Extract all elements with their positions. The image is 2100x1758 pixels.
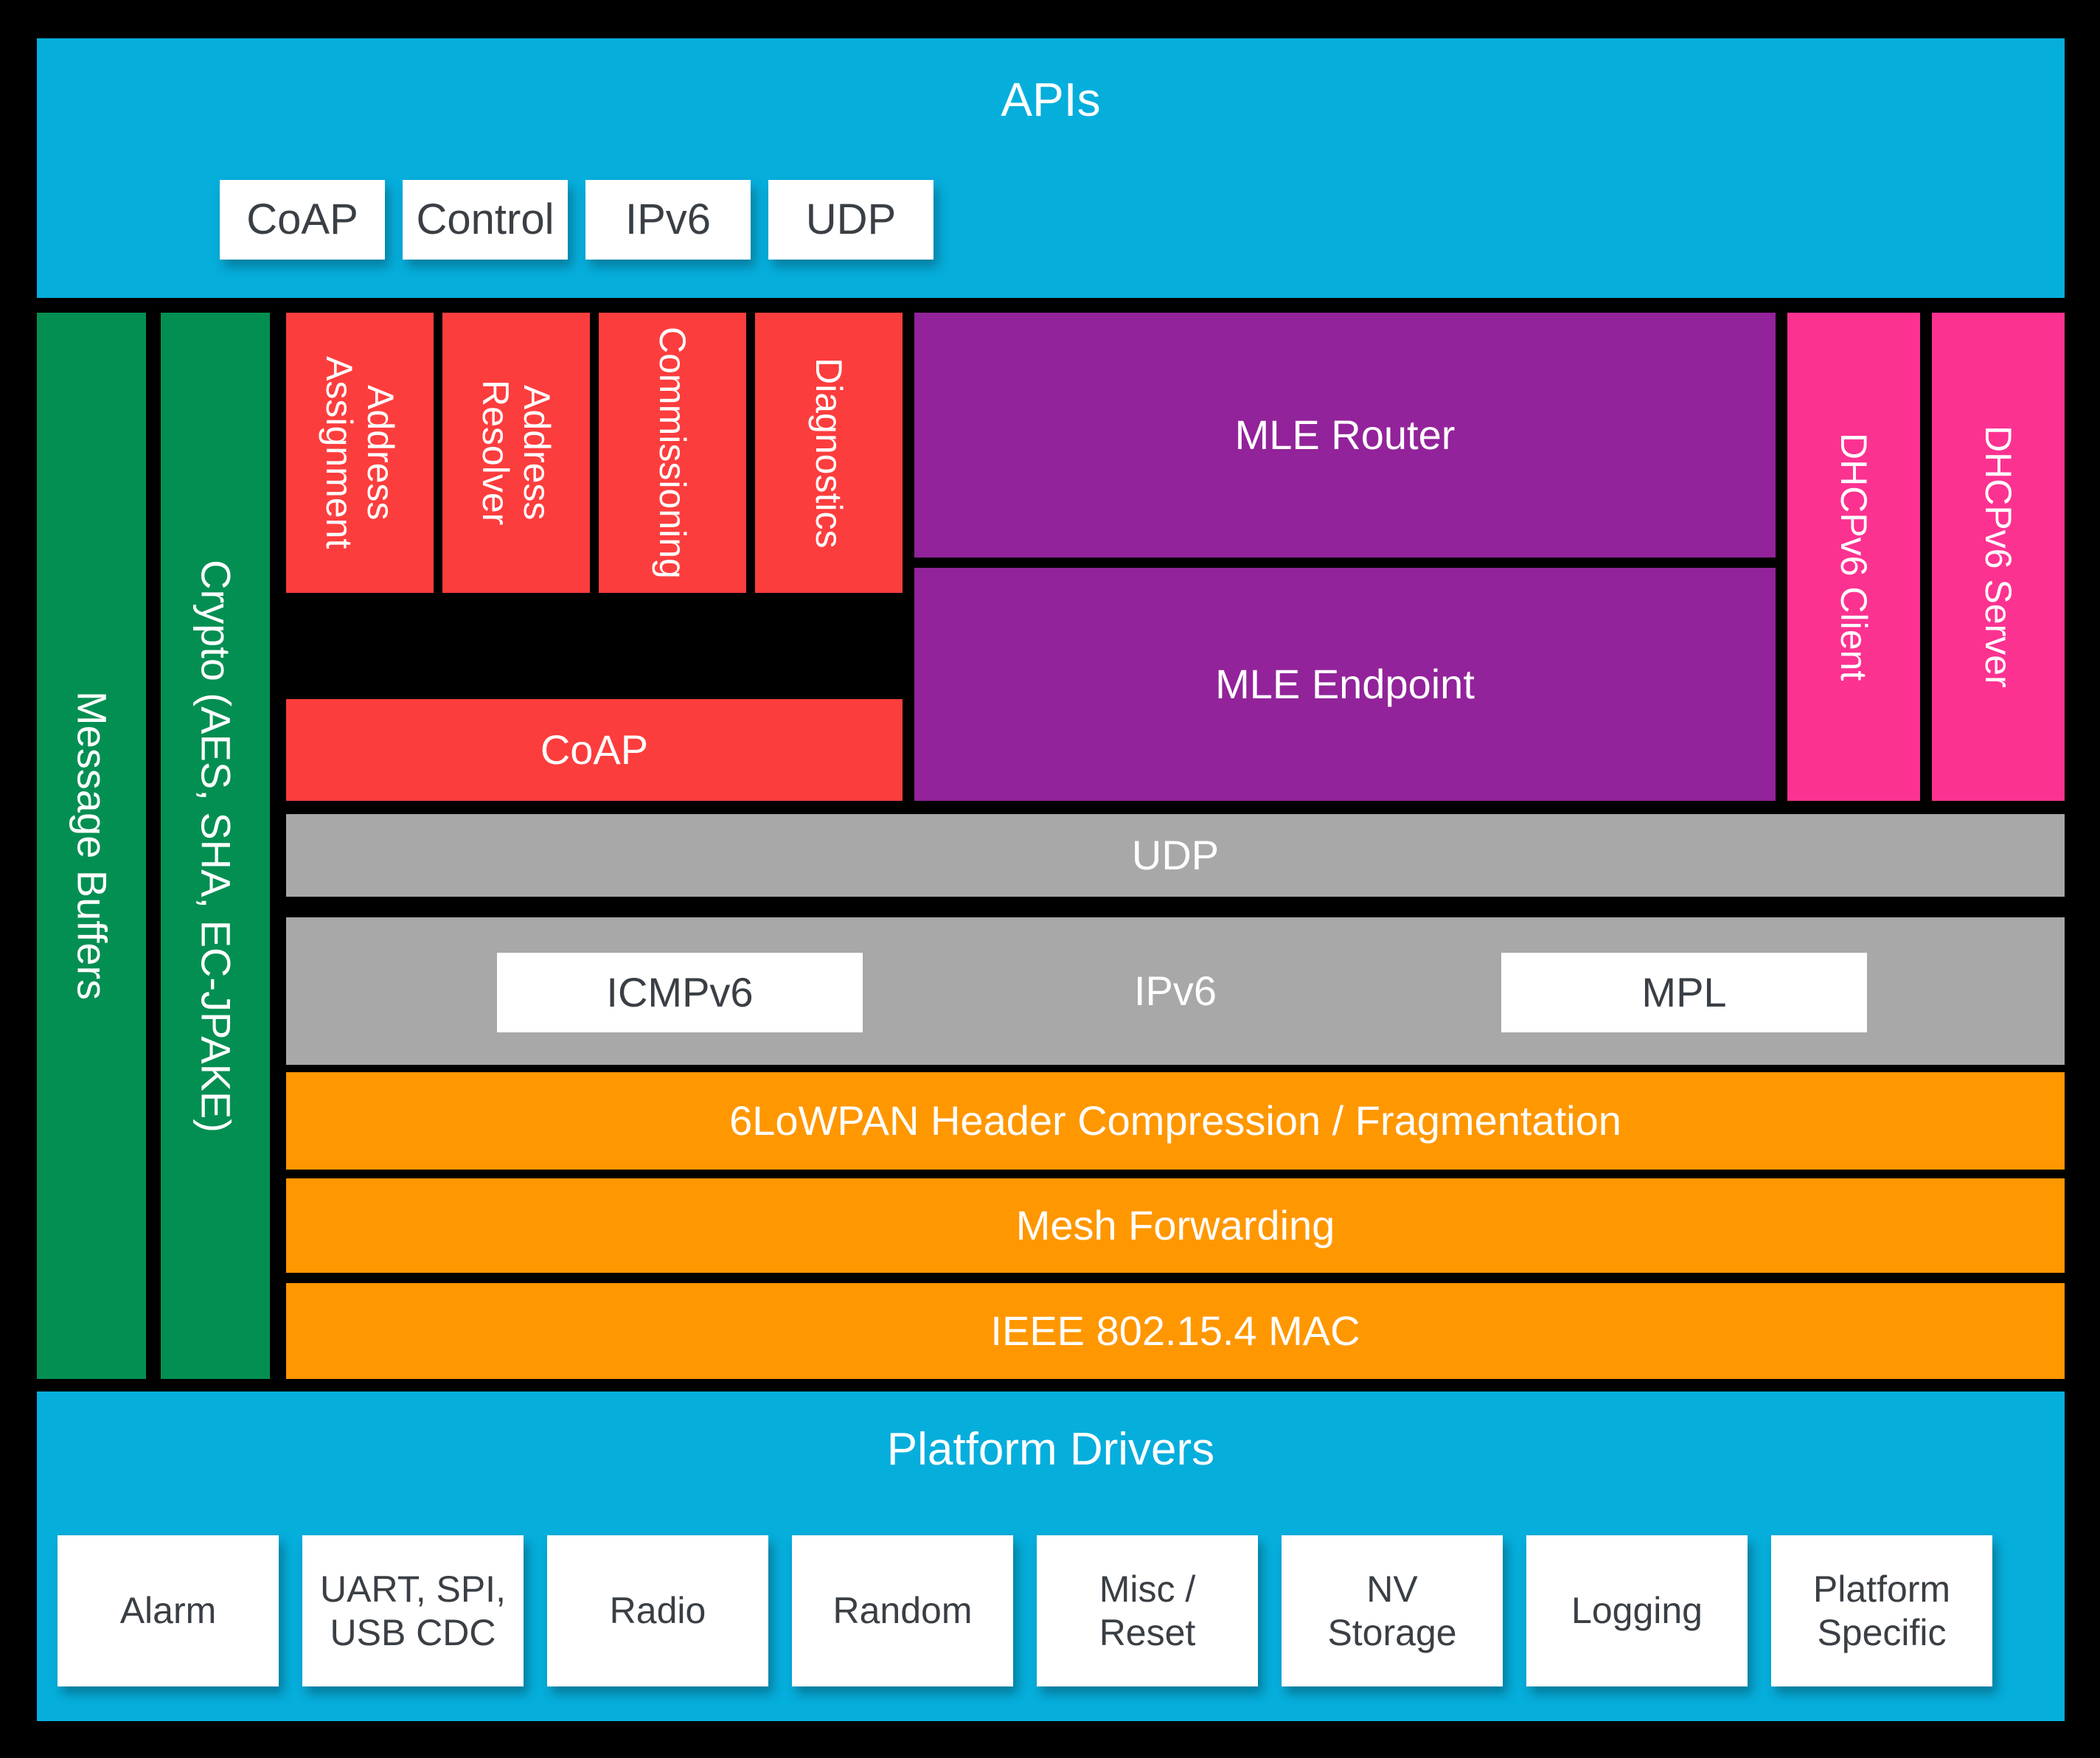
core-mle-endpoint-label: MLE Endpoint <box>1215 661 1475 708</box>
core-mesh-forwarding-row-label: Mesh Forwarding <box>1016 1203 1335 1249</box>
core-dhcpv6-client: DHCPv6 Client <box>1787 313 1920 801</box>
api-chip-coap[interactable]: CoAP <box>220 180 385 260</box>
core-udp-row: UDP <box>286 814 2065 897</box>
core-mle-router-label: MLE Router <box>1235 412 1456 459</box>
core-ipv6-chip-icmpv6[interactable]: ICMPv6 <box>497 953 863 1032</box>
core-coap-bar: CoAP <box>286 699 903 801</box>
core-mesh-forwarding-row: Mesh Forwarding <box>286 1178 2065 1273</box>
core-ieee-mac-row-label: IEEE 802.15.4 MAC <box>990 1308 1360 1355</box>
platform-chip-radio[interactable]: Radio <box>547 1535 768 1686</box>
apis-layer-title: APIs <box>37 74 2065 127</box>
core-dhcpv6-server: DHCPv6 Server <box>1932 313 2065 801</box>
core-dhcpv6-client-label: DHCPv6 Client <box>1833 433 1874 681</box>
core-column-crypto-label: Crypto (AES, SHA, EC-JPAKE) <box>192 560 239 1133</box>
core-service-commissioning: Commissioning <box>599 313 746 593</box>
api-chip-udp[interactable]: UDP <box>768 180 933 260</box>
platform-chip-alarm[interactable]: Alarm <box>58 1535 279 1686</box>
platform-chip-random[interactable]: Random <box>792 1535 1013 1686</box>
platform-chip-platform-specific[interactable]: PlatformSpecific <box>1771 1535 1992 1686</box>
core-dhcpv6-server-label: DHCPv6 Server <box>1978 425 2019 688</box>
core-6lowpan-row: 6LoWPAN Header Compression / Fragmentati… <box>286 1072 2065 1170</box>
apis-layer: APIs CoAP Control IPv6 UDP <box>37 38 2065 298</box>
core-service-address-resolver: Address Resolver <box>442 313 590 593</box>
core-service-address-resolver-label: Address Resolver <box>475 313 557 593</box>
platform-drivers-layer: Platform Drivers Alarm UART, SPI,USB CDC… <box>37 1392 2065 1721</box>
core-service-commissioning-label: Commissioning <box>652 327 693 579</box>
core-column-crypto: Crypto (AES, SHA, EC-JPAKE) <box>161 313 270 1379</box>
core-service-address-assignment: Address Assignment <box>286 313 434 593</box>
core-udp-row-label: UDP <box>1132 833 1219 879</box>
platform-chip-logging[interactable]: Logging <box>1526 1535 1748 1686</box>
core-ipv6-chip-mpl[interactable]: MPL <box>1501 953 1867 1032</box>
platform-chip-uart-spi-usb-cdc[interactable]: UART, SPI,USB CDC <box>302 1535 524 1686</box>
core-coap-bar-label: CoAP <box>540 727 648 774</box>
core-column-message-buffers: Message Buffers <box>37 313 146 1379</box>
platform-chip-nv-storage[interactable]: NVStorage <box>1282 1535 1503 1686</box>
core-service-diagnostics-label: Diagnostics <box>808 358 849 548</box>
platform-chip-misc-reset[interactable]: Misc /Reset <box>1037 1535 1258 1686</box>
core-ipv6-row-label: IPv6 <box>1134 968 1217 1015</box>
api-chip-ipv6[interactable]: IPv6 <box>585 180 751 260</box>
platform-drivers-title: Platform Drivers <box>37 1424 2065 1475</box>
core-6lowpan-row-label: 6LoWPAN Header Compression / Fragmentati… <box>729 1098 1621 1144</box>
api-chip-control[interactable]: Control <box>403 180 568 260</box>
core-service-address-assignment-label: Address Assignment <box>319 313 401 593</box>
core-mle-router: MLE Router <box>914 313 1776 557</box>
core-column-message-buffers-label: Message Buffers <box>69 691 115 1000</box>
core-ieee-mac-row: IEEE 802.15.4 MAC <box>286 1283 2065 1379</box>
core-service-diagnostics: Diagnostics <box>755 313 903 593</box>
core-mle-endpoint: MLE Endpoint <box>914 568 1776 801</box>
stack-architecture-diagram: APIs CoAP Control IPv6 UDP Message Buffe… <box>0 0 2100 1758</box>
